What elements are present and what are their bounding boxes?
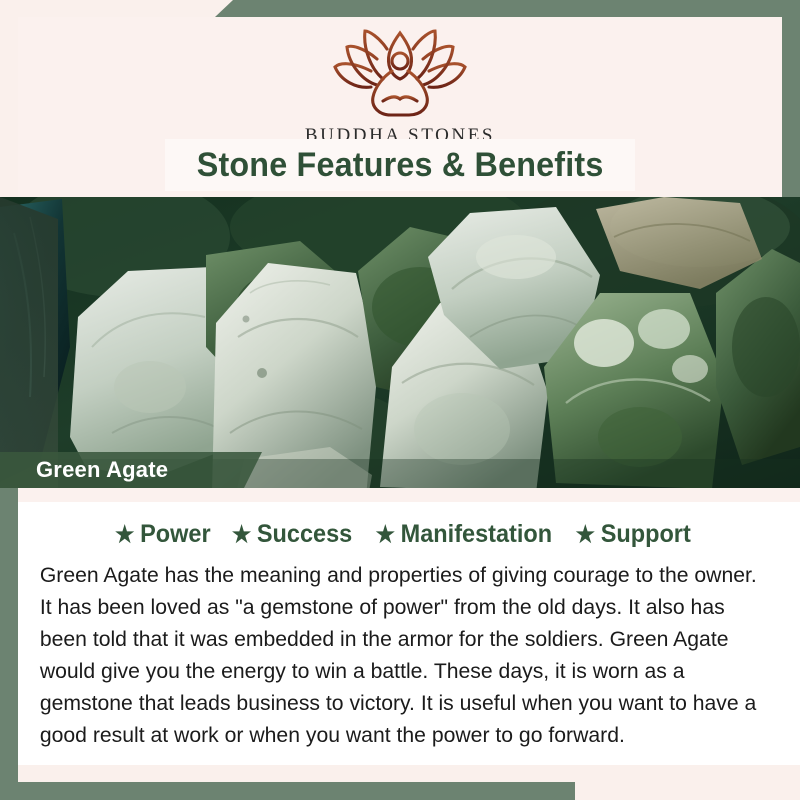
content-top-strip [18, 488, 800, 502]
stone-description: Green Agate has the meaning and properti… [28, 559, 767, 751]
star-icon: ★ [115, 523, 134, 546]
frame-top-bar [215, 0, 800, 17]
page-title-box: Stone Features & Benefits [165, 139, 635, 191]
product-photo [0, 197, 800, 488]
photo-left-shadow [0, 197, 58, 488]
frame-bottom-bar [0, 782, 800, 800]
brand-logo: BUDDHA STONES [305, 25, 495, 147]
content-panel: ★ Power ★ Success ★ Manifestation ★ Supp… [18, 502, 800, 765]
benefit-label: Success [257, 520, 352, 549]
benefit-item-support: ★ Support [575, 520, 690, 549]
star-icon: ★ [375, 523, 394, 546]
lotus-meditating-figure-logo-icon [325, 25, 475, 121]
star-icon: ★ [575, 523, 594, 546]
header: BUDDHA STONES Stone Features & Benefits [18, 17, 782, 197]
page-title: Stone Features & Benefits [197, 146, 604, 185]
benefit-item-power: ★ Power [115, 520, 211, 549]
poster-root: BUDDHA STONES Stone Features & Benefits [0, 0, 800, 800]
frame-right-bar [782, 0, 800, 208]
green-agate-stones-illustration [0, 197, 800, 488]
benefit-label: Manifestation [400, 520, 551, 549]
benefit-item-manifestation: ★ Manifestation [375, 520, 551, 549]
benefit-label: Support [600, 520, 690, 549]
star-icon: ★ [232, 523, 251, 546]
benefits-list: ★ Power ★ Success ★ Manifestation ★ Supp… [28, 520, 778, 549]
stone-name-label: Green Agate [36, 457, 168, 483]
benefit-label: Power [140, 520, 211, 549]
benefit-item-success: ★ Success [232, 520, 352, 549]
stone-name-badge: Green Agate [0, 452, 262, 488]
